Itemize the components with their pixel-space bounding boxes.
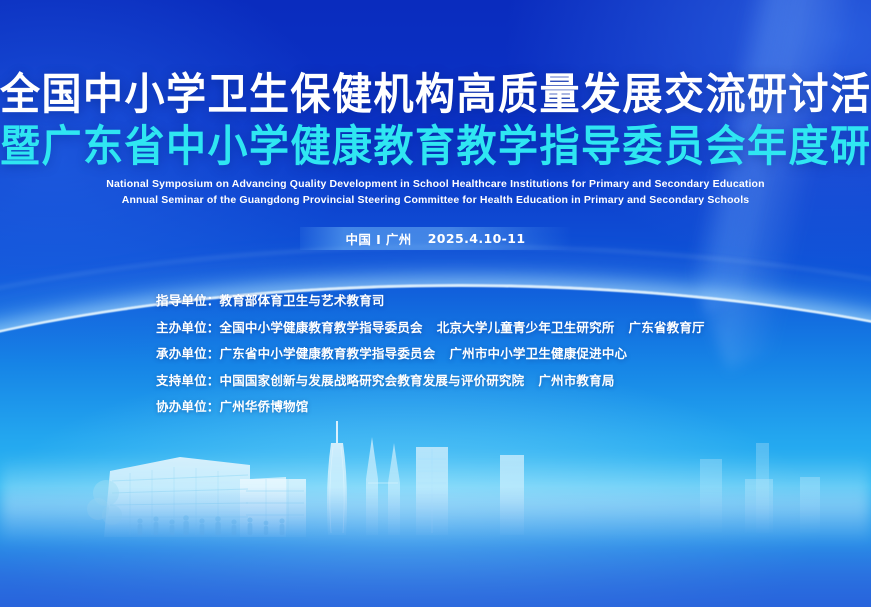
- organizer-label: 主办单位：: [156, 320, 220, 335]
- organizer-row: 协办单位：广州华侨博物馆: [156, 394, 705, 421]
- organizer-row: 指导单位：教育部体育卫生与艺术教育司: [156, 288, 705, 315]
- organizer-label: 支持单位：: [156, 373, 220, 388]
- organizer-row: 主办单位：全国中小学健康教育教学指导委员会北京大学儿童青少年卫生研究所广东省教育…: [156, 315, 705, 342]
- organizer-label: 承办单位：: [156, 346, 220, 361]
- organizer-label: 协办单位：: [156, 399, 220, 414]
- organizer-value: 广州市中小学卫生健康促进中心: [449, 346, 627, 361]
- organizer-label: 指导单位：: [156, 293, 220, 308]
- organizer-value: 教育部体育卫生与艺术教育司: [220, 293, 385, 308]
- title-line-1: 全国中小学卫生保健机构高质量发展交流研讨活动: [0, 70, 871, 120]
- location-date-banner: 中国 I 广州 2025.4.10-11: [0, 227, 871, 250]
- organizer-row: 承办单位：广东省中小学健康教育教学指导委员会广州市中小学卫生健康促进中心: [156, 341, 705, 368]
- organizer-value: 北京大学儿童青少年卫生研究所: [437, 320, 615, 335]
- organizer-value: 中国国家创新与发展战略研究会教育发展与评价研究院: [220, 373, 525, 388]
- poster-subtitle-english: National Symposium on Advancing Quality …: [0, 176, 871, 208]
- organizer-list: 指导单位：教育部体育卫生与艺术教育司主办单位：全国中小学健康教育教学指导委员会北…: [156, 288, 705, 421]
- subtitle-line-2: Annual Seminar of the Guangdong Provinci…: [0, 192, 871, 208]
- subtitle-line-1: National Symposium on Advancing Quality …: [0, 176, 871, 192]
- date-text: 2025.4.10-11: [428, 231, 526, 246]
- organizer-value: 广州华侨博物馆: [220, 399, 309, 414]
- organizer-value: 广州市教育局: [538, 373, 614, 388]
- organizer-value: 全国中小学健康教育教学指导委员会: [220, 320, 423, 335]
- location-text: 中国 I 广州: [346, 229, 412, 248]
- organizer-value: 广东省中小学健康教育教学指导委员会: [220, 346, 436, 361]
- organizer-row: 支持单位：中国国家创新与发展战略研究会教育发展与评价研究院广州市教育局: [156, 368, 705, 395]
- organizer-value: 广东省教育厅: [629, 320, 705, 335]
- poster-title: 全国中小学卫生保健机构高质量发展交流研讨活动 暨广东省中小学健康教育教学指导委员…: [0, 72, 871, 170]
- conference-poster: 全国中小学卫生保健机构高质量发展交流研讨活动 暨广东省中小学健康教育教学指导委员…: [0, 0, 871, 607]
- title-line-2: 暨广东省中小学健康教育教学指导委员会年度研讨活动: [0, 122, 871, 172]
